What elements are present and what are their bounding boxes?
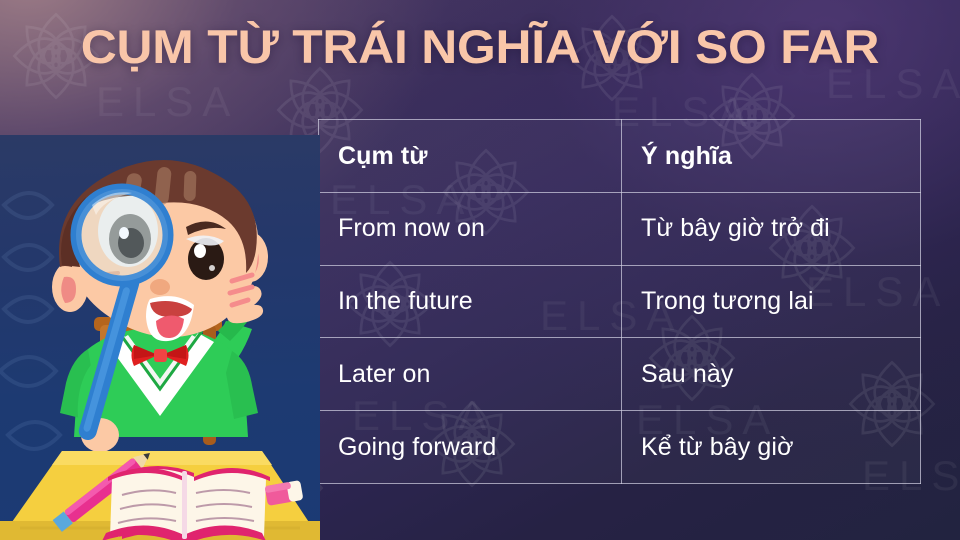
cell-phrase: In the future [319,265,622,338]
cell-phrase: From now on [319,192,622,265]
cell-meaning: Kể từ bây giờ [622,411,921,484]
cell-meaning: Từ bây giờ trở đi [622,192,921,265]
page-title: CỤM TỪ TRÁI NGHĨA VỚI SO FAR [0,18,960,76]
table-header-row: Cụm từ Ý nghĩa [319,120,921,193]
table-row: In the future Trong tương lai [319,265,921,338]
mascot-illustration [0,135,320,540]
vocabulary-table-wrapper: Cụm từ Ý nghĩa From now on Từ bây giờ tr… [318,119,920,478]
table-row: From now on Từ bây giờ trở đi [319,192,921,265]
vocabulary-table: Cụm từ Ý nghĩa From now on Từ bây giờ tr… [318,119,921,484]
table-row: Going forward Kể từ bây giờ [319,411,921,484]
cell-meaning: Trong tương lai [622,265,921,338]
panel-knot-decoration-icon [0,193,60,449]
slide-canvas: ELSAELSAELSAELSAELSAELSAELSAELSAELSAELSA… [0,0,960,540]
column-header-meaning: Ý nghĩa [622,120,921,193]
cell-meaning: Sau này [622,338,921,411]
cell-phrase: Going forward [319,411,622,484]
mascot-scene-svg [0,135,320,540]
table-row: Later on Sau này [319,338,921,411]
elsa-wordmark-watermark: ELSA [96,78,239,126]
cell-phrase: Later on [319,338,622,411]
column-header-phrase: Cụm từ [319,120,622,193]
open-book [102,466,270,540]
